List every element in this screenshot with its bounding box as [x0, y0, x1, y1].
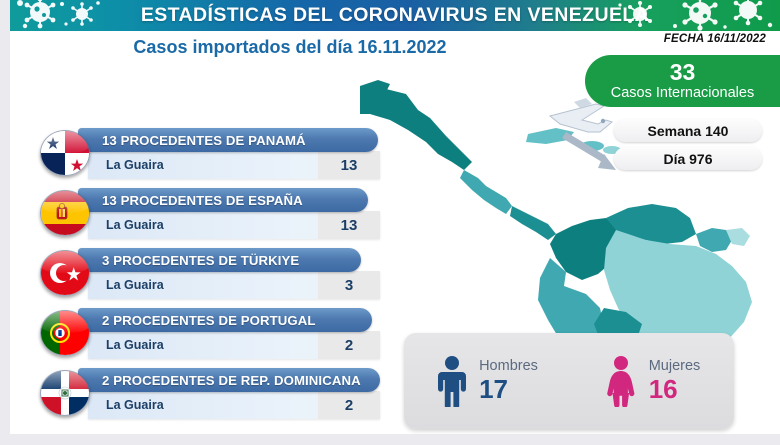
origin-bar-rep-dominicana: 2 PROCEDENTES DE REP. DOMINICANA — [78, 368, 380, 392]
origin-count: 13 — [318, 211, 380, 239]
origin-count: 2 — [318, 391, 380, 419]
turkiye-flag-icon — [40, 250, 88, 294]
international-cases-badge: 33 Casos Internacionales — [585, 55, 780, 107]
origins-list: 13 PROCEDENTES DE PANAMÁ La Guaira 13 — [40, 128, 380, 428]
origin-count: 3 — [318, 271, 380, 299]
origin-row-turkiye[interactable]: 3 PROCEDENTES DE TÜRKIYE La Guaira 3 — [40, 248, 380, 304]
fecha-label: FECHA 16/11/2022 — [664, 33, 766, 45]
dominican-republic-flag-icon — [40, 370, 88, 414]
panama-flag-icon — [40, 130, 88, 174]
female-figure-icon — [603, 355, 639, 407]
origin-place: La Guaira — [88, 218, 164, 232]
international-cases-count: 33 — [670, 61, 696, 84]
origin-bar-panama: 13 PROCEDENTES DE PANAMÁ — [78, 128, 378, 152]
page-title: ESTADÍSTICAS DEL CORONAVIRUS EN VENEZUEL… — [10, 0, 780, 31]
origin-subrow-espana: La Guaira 13 — [88, 211, 380, 239]
origin-subrow-panama: La Guaira 13 — [88, 151, 380, 179]
origin-count: 2 — [318, 331, 380, 359]
origin-row-rep-dominicana[interactable]: 2 PROCEDENTES DE REP. DOMINICANA La Guai… — [40, 368, 380, 424]
origin-title: 2 PROCEDENTES DE PORTUGAL — [78, 313, 316, 328]
semana-pill: Semana 140 — [614, 119, 762, 142]
female-value: 16 — [649, 376, 701, 403]
portugal-flag-icon — [40, 310, 88, 354]
international-cases-label: Casos Internacionales — [611, 86, 754, 101]
origin-subrow-rep-dominicana: La Guaira 2 — [88, 391, 380, 419]
gender-cell-male: Hombres 17 — [404, 355, 569, 407]
origin-row-portugal[interactable]: 2 PROCEDENTES DE PORTUGAL La Guaira 2 — [40, 308, 380, 364]
spain-flag-icon — [40, 190, 88, 234]
male-figure-icon — [435, 355, 469, 407]
infographic-canvas: ESTADÍSTICAS DEL CORONAVIRUS EN VENEZUEL… — [0, 0, 780, 445]
origin-title: 3 PROCEDENTES DE TÜRKIYE — [78, 253, 299, 268]
origin-place: La Guaira — [88, 338, 164, 352]
origin-bar-portugal: 2 PROCEDENTES DE PORTUGAL — [78, 308, 372, 332]
dia-pill: Día 976 — [614, 147, 762, 170]
header-banner: ESTADÍSTICAS DEL CORONAVIRUS EN VENEZUEL… — [10, 0, 780, 31]
origin-count: 13 — [318, 151, 380, 179]
male-label: Hombres — [479, 359, 538, 374]
origin-title: 2 PROCEDENTES DE REP. DOMINICANA — [78, 373, 361, 388]
origin-place: La Guaira — [88, 158, 164, 172]
gender-stats-panel: Hombres 17 Mujeres 16 — [404, 333, 734, 429]
origin-bar-espana: 13 PROCEDENTES DE ESPAÑA — [78, 188, 368, 212]
origin-bar-turkiye: 3 PROCEDENTES DE TÜRKIYE — [78, 248, 361, 272]
gender-cell-female: Mujeres 16 — [569, 355, 734, 407]
origin-title: 13 PROCEDENTES DE ESPAÑA — [78, 193, 303, 208]
female-label: Mujeres — [649, 359, 701, 374]
origin-title: 13 PROCEDENTES DE PANAMÁ — [78, 133, 306, 148]
origin-place: La Guaira — [88, 278, 164, 292]
origin-row-panama[interactable]: 13 PROCEDENTES DE PANAMÁ La Guaira 13 — [40, 128, 380, 184]
origin-row-espana[interactable]: 13 PROCEDENTES DE ESPAÑA La Guaira 13 — [40, 188, 380, 244]
origin-place: La Guaira — [88, 398, 164, 412]
male-value: 17 — [479, 376, 538, 403]
subtitle: Casos importados del día 16.11.2022 — [10, 34, 570, 60]
origin-subrow-turkiye: La Guaira 3 — [88, 271, 380, 299]
origin-subrow-portugal: La Guaira 2 — [88, 331, 380, 359]
